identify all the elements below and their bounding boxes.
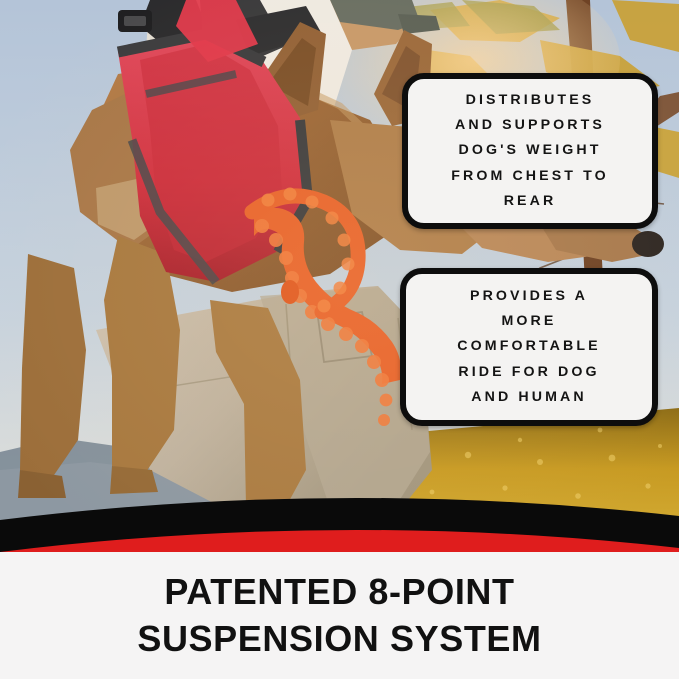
callout-text-comfortable-ride: PROVIDES A MORE COMFORTABLE RIDE FOR DOG… — [447, 284, 610, 410]
banner-headline-line-2: SUSPENSION SYSTEM — [137, 618, 541, 660]
bottom-banner: PATENTED 8-POINT SUSPENSION SYSTEM — [0, 552, 679, 679]
banner-headline-line-1: PATENTED 8-POINT — [164, 571, 514, 613]
callout-box-comfortable-ride: PROVIDES A MORE COMFORTABLE RIDE FOR DOG… — [400, 268, 658, 426]
product-feature-card: DISTRIBUTES AND SUPPORTS DOG'S WEIGHT FR… — [0, 0, 679, 679]
callout-text-distributes: DISTRIBUTES AND SUPPORTS DOG'S WEIGHT FR… — [441, 88, 618, 214]
callout-box-distributes: DISTRIBUTES AND SUPPORTS DOG'S WEIGHT FR… — [402, 73, 658, 229]
